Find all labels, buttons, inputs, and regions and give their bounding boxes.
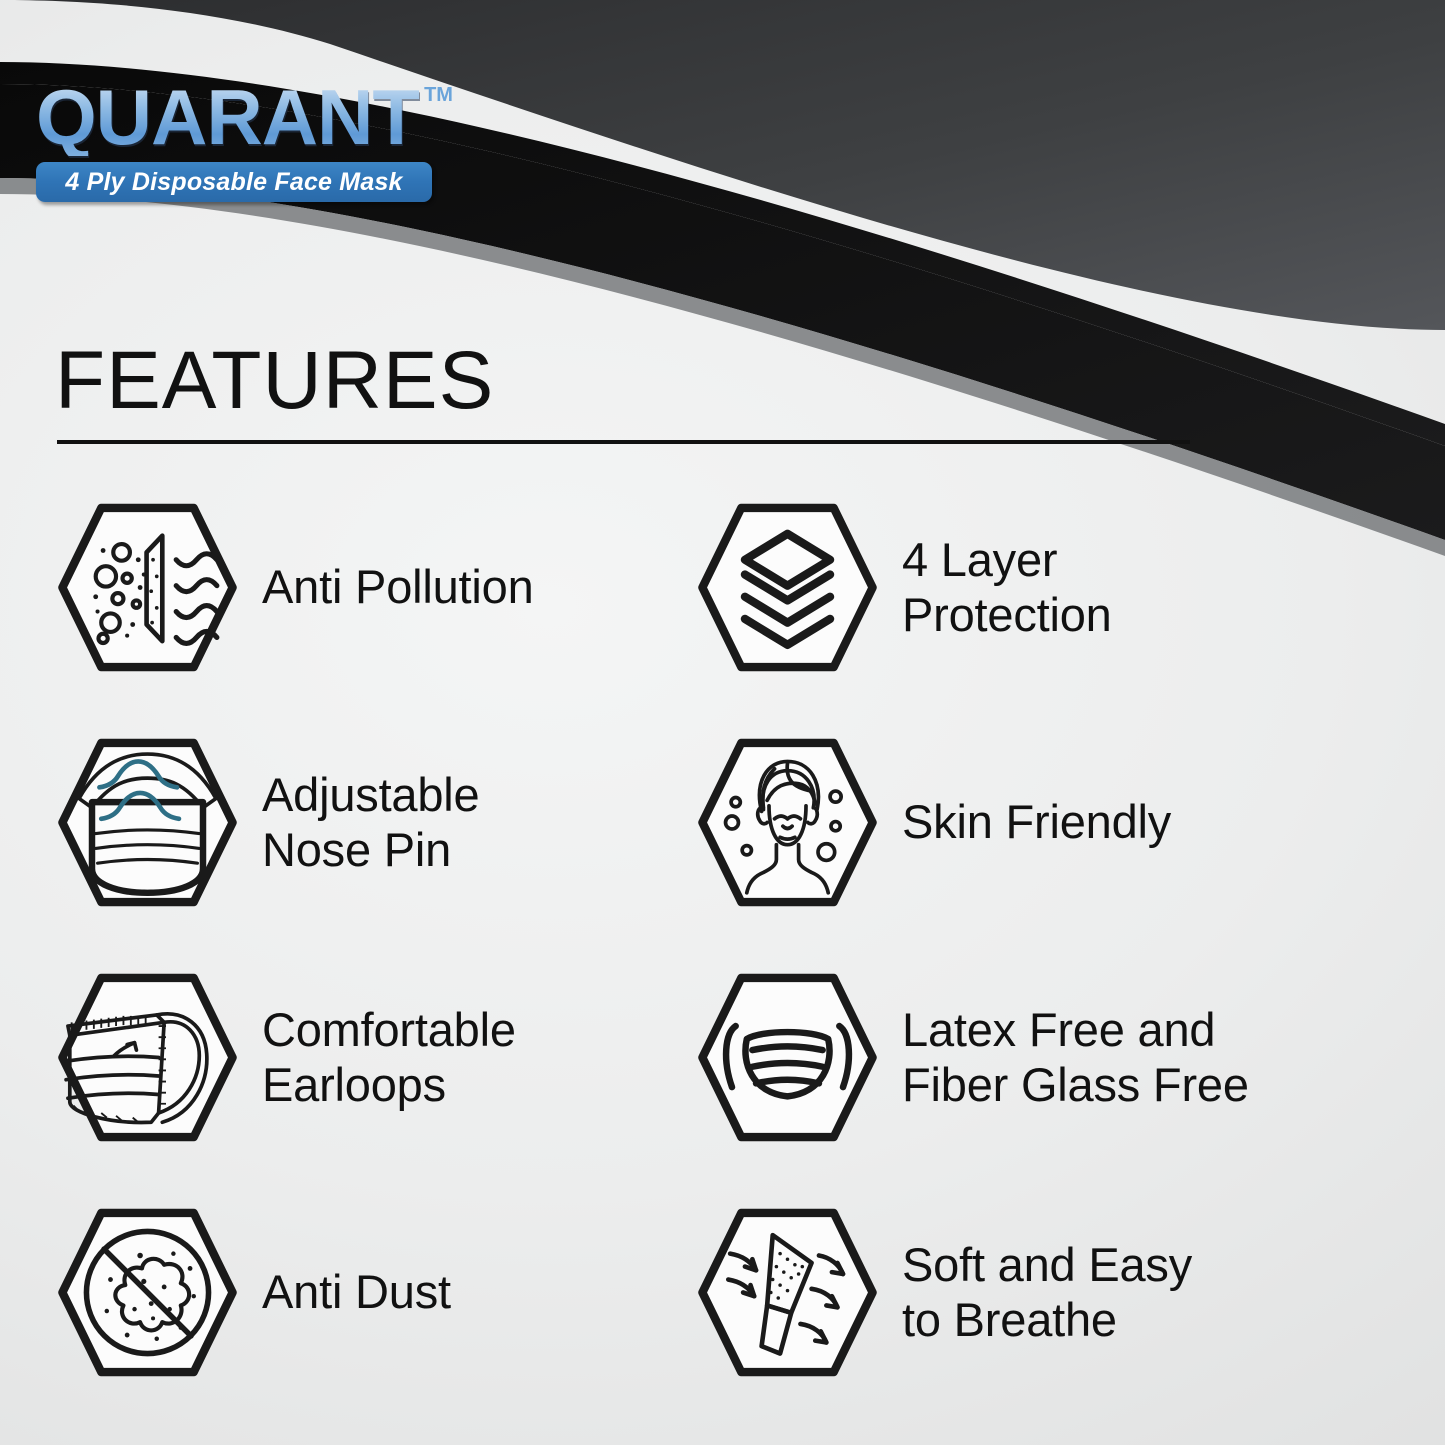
feature-item-anti-pollution: Anti Pollution bbox=[55, 470, 695, 705]
brand-name: QUARANT bbox=[36, 78, 419, 156]
skin-face-icon bbox=[695, 730, 880, 915]
features-grid: Anti Pollution 4 Layer Protection bbox=[55, 470, 1400, 1410]
airflow-fabric-icon bbox=[695, 1200, 880, 1385]
feature-item-earloops: Comfortable Earloops bbox=[55, 940, 695, 1175]
feature-label: Adjustable Nose Pin bbox=[262, 768, 480, 878]
feature-item-nose-pin: Adjustable Nose Pin bbox=[55, 705, 695, 940]
no-dust-icon bbox=[55, 1200, 240, 1385]
feature-item-skin-friendly: Skin Friendly bbox=[695, 705, 1335, 940]
feature-item-latex-free: Latex Free and Fiber Glass Free bbox=[695, 940, 1335, 1175]
feature-item-breathable: Soft and Easy to Breathe bbox=[695, 1175, 1335, 1410]
product-feature-poster: QUARANT TM 4 Ply Disposable Face Mask FE… bbox=[0, 0, 1445, 1445]
feature-label: Anti Pollution bbox=[262, 560, 534, 615]
nose-pin-mask-icon bbox=[55, 730, 240, 915]
brand-logo: QUARANT TM 4 Ply Disposable Face Mask bbox=[36, 78, 466, 202]
title-divider bbox=[57, 440, 1190, 444]
earloop-mask-icon bbox=[55, 965, 240, 1150]
feature-item-anti-dust: Anti Dust bbox=[55, 1175, 695, 1410]
anti-pollution-icon bbox=[55, 495, 240, 680]
feature-label: Skin Friendly bbox=[902, 795, 1171, 850]
feature-label: Anti Dust bbox=[262, 1265, 451, 1320]
trademark-icon: TM bbox=[424, 84, 453, 107]
feature-label: Comfortable Earloops bbox=[262, 1003, 516, 1113]
feature-label: Latex Free and Fiber Glass Free bbox=[902, 1003, 1249, 1113]
page-title: FEATURES bbox=[55, 340, 494, 422]
feature-label: Soft and Easy to Breathe bbox=[902, 1238, 1192, 1348]
front-mask-icon bbox=[695, 965, 880, 1150]
brand-tagline: 4 Ply Disposable Face Mask bbox=[65, 168, 402, 197]
four-layer-stack-icon bbox=[695, 495, 880, 680]
brand-tagline-bar: 4 Ply Disposable Face Mask bbox=[36, 162, 432, 202]
feature-item-four-layer: 4 Layer Protection bbox=[695, 470, 1335, 705]
feature-label: 4 Layer Protection bbox=[902, 533, 1112, 643]
